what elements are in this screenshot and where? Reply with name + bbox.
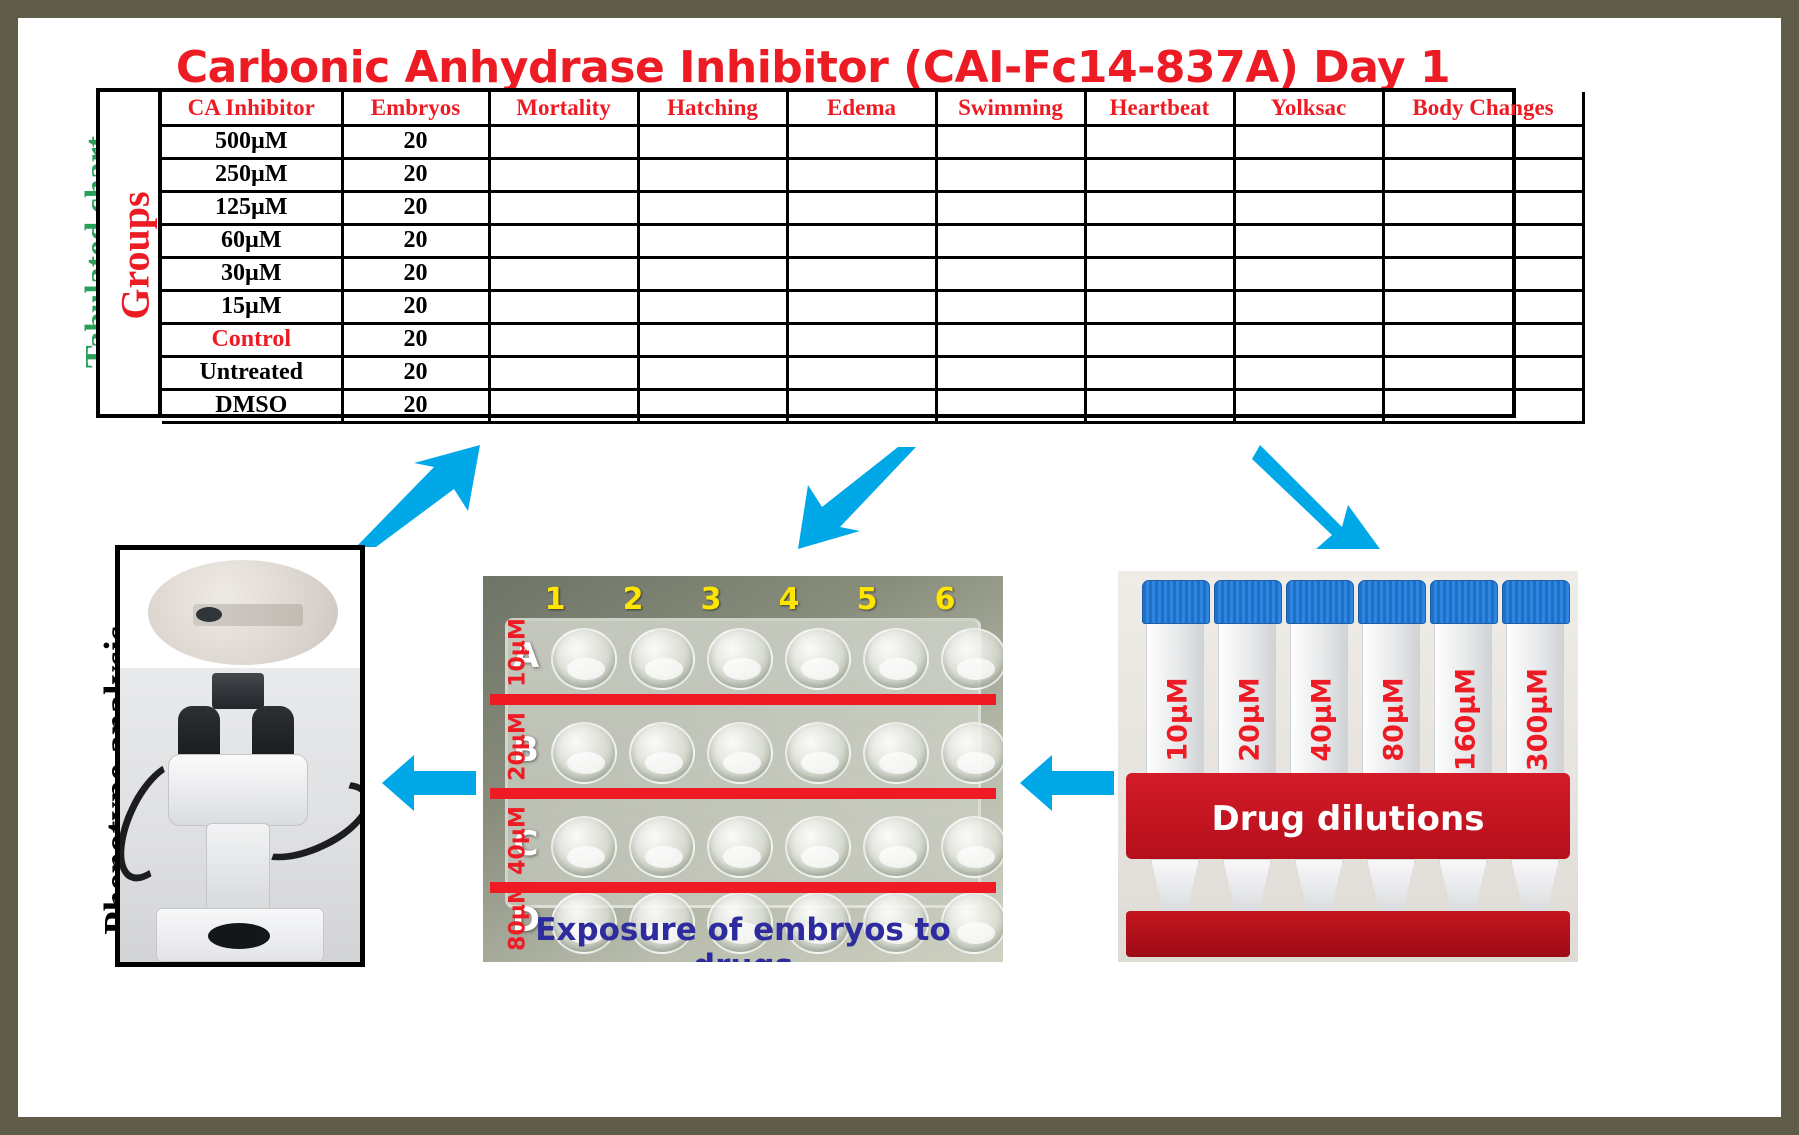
cell-observation-blank[interactable] — [787, 356, 936, 389]
cell-ca-inhibitor: 125µM — [162, 191, 342, 224]
table-row: 60µM20 — [162, 224, 1583, 257]
cell-observation-blank[interactable] — [787, 323, 936, 356]
col-header-yolksac: Yolksac — [1234, 92, 1383, 125]
col-header-body-changes: Body Changes — [1383, 92, 1583, 125]
tabulated-chart: Groups CA Inhibitor Embryos Mortality Ha… — [96, 88, 1516, 418]
cell-observation-blank[interactable] — [489, 389, 638, 422]
cell-observation-blank[interactable] — [489, 224, 638, 257]
tube-concentration-label: 40µM — [1307, 665, 1338, 775]
cell-observation-blank[interactable] — [1085, 125, 1234, 158]
plate-well[interactable] — [629, 722, 695, 784]
plate-column-number: 3 — [697, 582, 725, 617]
cell-observation-blank[interactable] — [1383, 323, 1583, 356]
cell-observation-blank[interactable] — [1085, 290, 1234, 323]
groups-column: Groups — [100, 92, 162, 414]
cell-observation-blank[interactable] — [489, 356, 638, 389]
cell-observation-blank[interactable] — [1085, 224, 1234, 257]
col-header-embryos: Embryos — [342, 92, 489, 125]
cell-ca-inhibitor: 15µM — [162, 290, 342, 323]
cell-observation-blank[interactable] — [936, 125, 1085, 158]
cell-observation-blank[interactable] — [638, 290, 787, 323]
well-plate-photo-panel: 123456 A10µMB20µMC40µMD80µM Exposure of … — [483, 576, 1003, 962]
arrow-table-to-rack — [1248, 443, 1388, 553]
cell-observation-blank[interactable] — [489, 257, 638, 290]
results-table: CA Inhibitor Embryos Mortality Hatching … — [162, 92, 1585, 424]
plate-well[interactable] — [707, 722, 773, 784]
cell-observation-blank[interactable] — [1234, 323, 1383, 356]
cell-embryos: 20 — [342, 125, 489, 158]
cell-observation-blank[interactable] — [638, 125, 787, 158]
plate-well[interactable] — [863, 816, 929, 878]
cell-observation-blank[interactable] — [936, 356, 1085, 389]
drug-dilutions-photo-panel: 10µM20µM40µM80µM160µM300µM Drug dilution… — [1118, 571, 1578, 962]
table-row: 15µM20 — [162, 290, 1583, 323]
cell-observation-blank[interactable] — [787, 257, 936, 290]
cell-observation-blank[interactable] — [638, 257, 787, 290]
drug-dilutions-label: Drug dilutions — [1126, 799, 1570, 839]
cell-observation-blank[interactable] — [638, 191, 787, 224]
cell-observation-blank[interactable] — [489, 323, 638, 356]
tube-cap[interactable] — [1430, 580, 1498, 624]
cell-observation-blank[interactable] — [1085, 323, 1234, 356]
cell-observation-blank[interactable] — [1234, 257, 1383, 290]
plate-well[interactable] — [629, 816, 695, 878]
cell-embryos: 20 — [342, 389, 489, 422]
plate-divider-line-1 — [490, 694, 996, 705]
plate-well[interactable] — [629, 628, 695, 690]
cell-observation-blank[interactable] — [1383, 389, 1583, 422]
table-row: 500µM20 — [162, 125, 1583, 158]
dilution-tube-lower — [1151, 859, 1199, 917]
cell-embryos: 20 — [342, 356, 489, 389]
arrow-table-to-plate — [798, 443, 928, 553]
cell-observation-blank[interactable] — [1234, 356, 1383, 389]
cell-observation-blank[interactable] — [638, 356, 787, 389]
cell-observation-blank[interactable] — [936, 257, 1085, 290]
cell-observation-blank[interactable] — [638, 389, 787, 422]
cell-observation-blank[interactable] — [1383, 224, 1583, 257]
plate-well[interactable] — [863, 722, 929, 784]
cell-embryos: 20 — [342, 158, 489, 191]
cell-observation-blank[interactable] — [1085, 158, 1234, 191]
plate-column-number: 5 — [853, 582, 881, 617]
plate-well[interactable] — [707, 628, 773, 690]
col-header-edema: Edema — [787, 92, 936, 125]
cell-observation-blank[interactable] — [1085, 389, 1234, 422]
cell-observation-blank[interactable] — [489, 125, 638, 158]
tube-cap[interactable] — [1502, 580, 1570, 624]
plate-divider-line-2 — [490, 788, 996, 799]
cell-observation-blank[interactable] — [936, 224, 1085, 257]
cell-embryos: 20 — [342, 257, 489, 290]
plate-column-number: 2 — [619, 582, 647, 617]
table-row: 125µM20 — [162, 191, 1583, 224]
arrow-rack-to-plate — [1018, 753, 1114, 813]
cell-observation-blank[interactable] — [1234, 158, 1383, 191]
cell-observation-blank[interactable] — [1383, 257, 1583, 290]
cell-ca-inhibitor: 500µM — [162, 125, 342, 158]
microscope-stage-plate — [208, 923, 270, 949]
arrow-plate-to-table — [348, 443, 488, 553]
plate-caption: Exposure of embryos to drugs — [483, 912, 1003, 962]
cell-observation-blank[interactable] — [638, 323, 787, 356]
cell-observation-blank[interactable] — [1383, 290, 1583, 323]
cell-ca-inhibitor: Untreated — [162, 356, 342, 389]
plate-column-number: 4 — [775, 582, 803, 617]
cell-observation-blank[interactable] — [1383, 191, 1583, 224]
tube-concentration-label: 80µM — [1379, 665, 1410, 775]
col-header-hatching: Hatching — [638, 92, 787, 125]
table-header-row: CA Inhibitor Embryos Mortality Hatching … — [162, 92, 1583, 125]
tube-cap[interactable] — [1358, 580, 1426, 624]
cell-observation-blank[interactable] — [1383, 356, 1583, 389]
cell-observation-blank[interactable] — [1085, 191, 1234, 224]
dilution-tube-lower — [1367, 859, 1415, 917]
cell-observation-blank[interactable] — [787, 290, 936, 323]
figure-root: Carbonic Anhydrase Inhibitor (CAI-Fc14-8… — [0, 0, 1799, 1135]
stereomicroscope-image — [120, 668, 360, 966]
tube-concentration-label: 10µM — [1163, 665, 1194, 775]
tube-rack-base — [1126, 911, 1570, 957]
plate-column-number: 6 — [931, 582, 959, 617]
cell-observation-blank[interactable] — [936, 389, 1085, 422]
tube-cap[interactable] — [1286, 580, 1354, 624]
groups-label: Groups — [112, 111, 159, 401]
cell-observation-blank[interactable] — [638, 224, 787, 257]
dilution-tube-lower — [1295, 859, 1343, 917]
cell-observation-blank[interactable] — [1234, 290, 1383, 323]
cell-observation-blank[interactable] — [787, 224, 936, 257]
embryo-inset-image — [148, 560, 338, 665]
col-header-ca-inhibitor: CA Inhibitor — [162, 92, 342, 125]
cell-observation-blank[interactable] — [1085, 356, 1234, 389]
cell-ca-inhibitor: 60µM — [162, 224, 342, 257]
cell-observation-blank[interactable] — [1383, 125, 1583, 158]
cell-observation-blank[interactable] — [1383, 158, 1583, 191]
cell-observation-blank[interactable] — [1234, 224, 1383, 257]
tube-cap[interactable] — [1142, 580, 1210, 624]
cell-ca-inhibitor: DMSO — [162, 389, 342, 422]
arrow-plate-to-microscope — [380, 753, 476, 813]
cell-observation-blank[interactable] — [787, 125, 936, 158]
tube-cap[interactable] — [1214, 580, 1282, 624]
cell-observation-blank[interactable] — [936, 191, 1085, 224]
dilution-tube-lower — [1511, 859, 1559, 917]
microscope-photo-panel — [115, 545, 365, 967]
cell-observation-blank[interactable] — [787, 389, 936, 422]
dilution-tube-lower — [1223, 859, 1271, 917]
cell-observation-blank[interactable] — [936, 158, 1085, 191]
plate-row-concentration: 10µM — [506, 608, 531, 698]
cell-observation-blank[interactable] — [787, 158, 936, 191]
plate-well[interactable] — [941, 816, 1003, 878]
cell-observation-blank[interactable] — [489, 290, 638, 323]
plate-well[interactable] — [785, 722, 851, 784]
col-header-mortality: Mortality — [489, 92, 638, 125]
table-row: 250µM20 — [162, 158, 1583, 191]
cell-embryos: 20 — [342, 323, 489, 356]
cell-observation-blank[interactable] — [1234, 125, 1383, 158]
plate-well[interactable] — [863, 628, 929, 690]
plate-well[interactable] — [551, 816, 617, 878]
tube-concentration-label: 160µM — [1451, 665, 1482, 775]
cell-embryos: 20 — [342, 191, 489, 224]
table-row: 30µM20 — [162, 257, 1583, 290]
table-row: Untreated20 — [162, 356, 1583, 389]
cell-observation-blank[interactable] — [1085, 257, 1234, 290]
tube-concentration-label: 20µM — [1235, 665, 1266, 775]
cell-ca-inhibitor: Control — [162, 323, 342, 356]
dilution-tube-lower — [1439, 859, 1487, 917]
plate-well[interactable] — [941, 628, 1003, 690]
plate-well[interactable] — [785, 628, 851, 690]
col-header-heartbeat: Heartbeat — [1085, 92, 1234, 125]
tube-concentration-label: 300µM — [1523, 665, 1554, 775]
plate-column-number: 1 — [541, 582, 569, 617]
cell-observation-blank[interactable] — [638, 158, 787, 191]
cell-embryos: 20 — [342, 224, 489, 257]
page-title: Carbonic Anhydrase Inhibitor (CAI-Fc14-8… — [113, 42, 1513, 93]
col-header-swimming: Swimming — [936, 92, 1085, 125]
plate-well[interactable] — [785, 816, 851, 878]
cell-ca-inhibitor: 30µM — [162, 257, 342, 290]
microscope-camera — [212, 673, 264, 709]
cell-observation-blank[interactable] — [787, 191, 936, 224]
cell-ca-inhibitor: 250µM — [162, 158, 342, 191]
plate-well[interactable] — [551, 628, 617, 690]
tube-rack-top: Drug dilutions — [1126, 773, 1570, 859]
plate-well[interactable] — [941, 722, 1003, 784]
cell-observation-blank[interactable] — [489, 191, 638, 224]
plate-row-concentration: 20µM — [506, 702, 531, 792]
table-row: Control20 — [162, 323, 1583, 356]
cell-observation-blank[interactable] — [1234, 191, 1383, 224]
cell-observation-blank[interactable] — [489, 158, 638, 191]
plate-divider-line-3 — [490, 882, 996, 893]
plate-well[interactable] — [707, 816, 773, 878]
table-row: DMSO20 — [162, 389, 1583, 422]
cell-embryos: 20 — [342, 290, 489, 323]
cell-observation-blank[interactable] — [936, 290, 1085, 323]
cell-observation-blank[interactable] — [1234, 389, 1383, 422]
cell-observation-blank[interactable] — [936, 323, 1085, 356]
zebrafish-embryo — [193, 604, 303, 626]
plate-well[interactable] — [551, 722, 617, 784]
